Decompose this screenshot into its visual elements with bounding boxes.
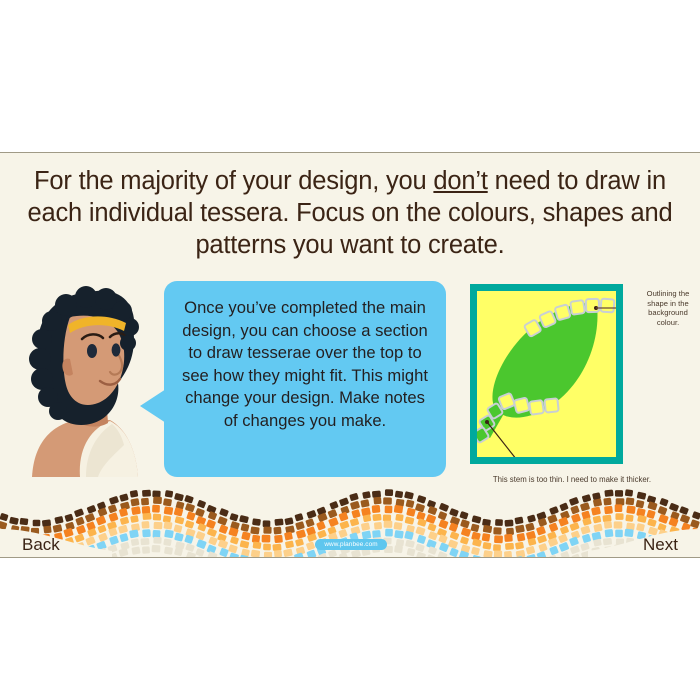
watermark-text: www.planbee.com — [324, 541, 377, 548]
speech-bubble-tail — [140, 389, 166, 423]
page-title: For the majority of your design, you don… — [18, 165, 682, 261]
heading-part-1: For the majority of your design, you — [34, 167, 433, 195]
speech-bubble: Once you’ve completed the main design, y… — [164, 281, 446, 477]
speech-bubble-text: Once you’ve completed the main design, y… — [180, 297, 430, 433]
avatar — [14, 277, 146, 477]
slide-viewer: For the majority of your design, you don… — [0, 0, 700, 700]
annotation-outlining-shape: Outlining the shape in the background co… — [638, 289, 698, 327]
watermark-badge: www.planbee.com — [315, 539, 387, 550]
presentation-slide: For the majority of your design, you don… — [0, 152, 700, 558]
next-button[interactable]: Next — [643, 535, 678, 555]
diagram-canvas — [477, 291, 616, 457]
back-button[interactable]: Back — [22, 535, 60, 555]
heading-emphasis: don’t — [433, 167, 487, 195]
roman-woman-icon — [14, 277, 146, 477]
leaf-mosaic-diagram — [470, 284, 623, 464]
annotation-stem-thickness: This stem is too thin. I need to make it… — [492, 475, 652, 485]
leaf-drawing-icon — [477, 291, 616, 457]
